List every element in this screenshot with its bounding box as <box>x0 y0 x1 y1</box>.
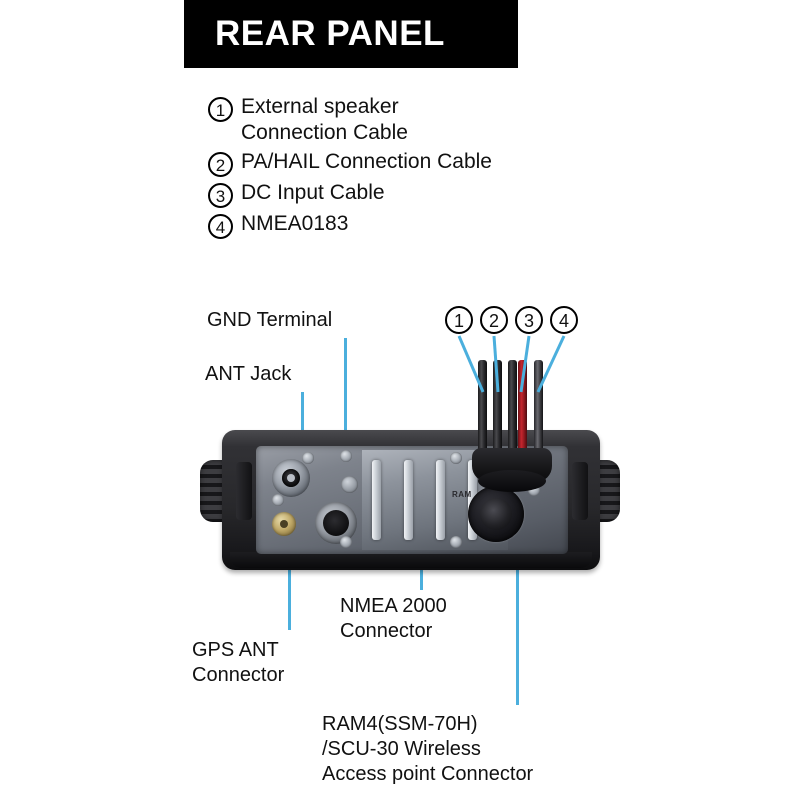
plate-screw-top-right <box>450 452 462 464</box>
callout-gps-ant: GPS ANT Connector <box>192 638 284 688</box>
cable-callout-4: 4 <box>550 306 578 334</box>
heatsink-fin-2 <box>404 460 413 540</box>
rear-panel-diagram: REAR PANEL 1 External speaker Connection… <box>0 0 800 800</box>
title-bar: REAR PANEL <box>184 0 518 68</box>
gnd-terminal-screw[interactable] <box>341 476 358 493</box>
radio-unit-rear: RAM <box>196 424 626 574</box>
cable-callout-3: 3 <box>515 306 543 334</box>
cable-callout-1: 1 <box>445 306 473 334</box>
legend-item-2: 2 PA/HAIL Connection Cable <box>208 149 628 177</box>
heatsink-fin-3 <box>436 460 445 540</box>
plate-screw-mid-left <box>272 494 284 506</box>
plate-screw-top-left <box>302 452 314 464</box>
legend-number-4: 4 <box>208 214 233 239</box>
legend-item-4: 4 NMEA0183 <box>208 211 628 239</box>
knob-bracket-right <box>572 462 588 520</box>
legend-label-4: NMEA0183 <box>233 211 348 237</box>
legend-item-3: 3 DC Input Cable <box>208 180 628 208</box>
page-title: REAR PANEL <box>184 14 445 54</box>
callout-ant-jack: ANT Jack <box>205 362 291 387</box>
ram4-wireless-access-point-connector[interactable] <box>468 486 524 542</box>
radio-bottom-lip <box>230 552 592 568</box>
ant-jack-connector[interactable] <box>272 459 310 497</box>
callout-nmea2000: NMEA 2000 Connector <box>340 594 447 644</box>
plate-screw-bottom-mid <box>340 536 352 548</box>
callout-ram4: RAM4(SSM-70H) /SCU-30 Wireless Access po… <box>322 712 533 787</box>
plate-screw-top-mid <box>340 450 352 462</box>
cable-callout-2: 2 <box>480 306 508 334</box>
gps-ant-connector[interactable] <box>272 512 296 536</box>
plate-screw-bottom-right <box>450 536 462 548</box>
legend-item-1: 1 External speaker Connection Cable <box>208 94 628 146</box>
legend-list: 1 External speaker Connection Cable 2 PA… <box>208 94 628 242</box>
legend-number-2: 2 <box>208 152 233 177</box>
ram-plate-label: RAM <box>452 490 472 499</box>
cable-boot-ring <box>478 470 546 492</box>
legend-number-1: 1 <box>208 97 233 122</box>
heatsink-fin-1 <box>372 460 381 540</box>
callout-gnd-terminal: GND Terminal <box>207 308 332 333</box>
legend-label-1: External speaker Connection Cable <box>233 94 408 146</box>
legend-number-3: 3 <box>208 183 233 208</box>
knob-bracket-left <box>236 462 252 520</box>
legend-label-2: PA/HAIL Connection Cable <box>233 149 492 175</box>
legend-label-3: DC Input Cable <box>233 180 385 206</box>
